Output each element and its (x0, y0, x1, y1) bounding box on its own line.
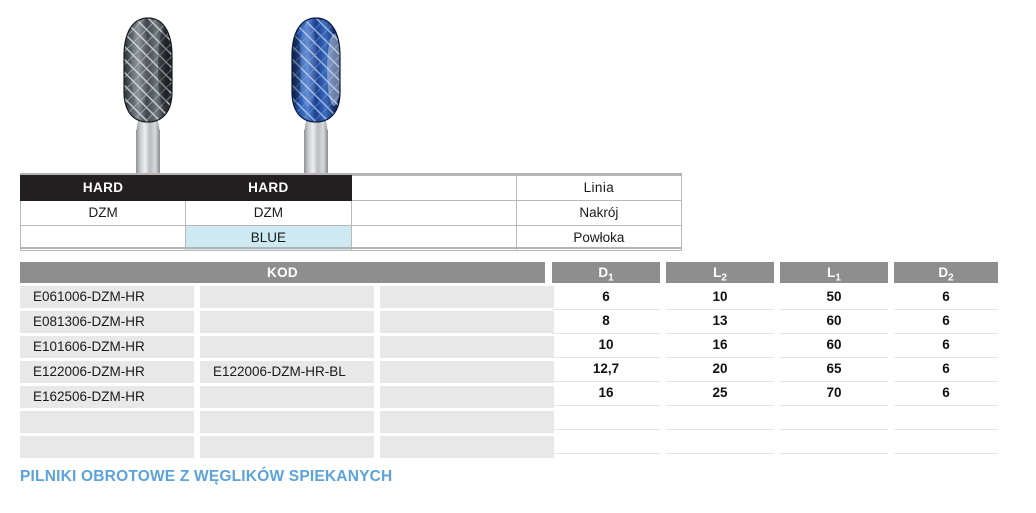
spec-cell-dzm-blue: DZM (186, 201, 351, 226)
kod-column-2: E122006-DZM-HR-BL (200, 286, 374, 461)
table-cell: 65 (780, 358, 888, 382)
spec-table-row-nakroj: DZM DZM Nakrój (21, 201, 682, 226)
dim-header-d2-sub: 2 (948, 273, 954, 284)
list-item[interactable]: E101606-DZM-HR (20, 336, 194, 358)
dim-header-l2-sub: 2 (721, 273, 727, 284)
list-item (20, 411, 194, 433)
product-image-row (0, 0, 1036, 175)
list-item (380, 361, 554, 383)
dim-header-d1-sub: 1 (608, 273, 614, 284)
table-cell: 6 (894, 358, 998, 382)
dim-column-d2: 6 6 6 6 6 (894, 286, 998, 454)
table-cell: 60 (780, 310, 888, 334)
dim-column-l2: 10 13 16 20 25 (666, 286, 774, 454)
list-item (20, 436, 194, 458)
dim-header-l2: L2 (666, 262, 774, 283)
kod-column-header: KOD (20, 262, 545, 283)
dim-header-d1-base: D (598, 265, 608, 280)
table-cell: 20 (666, 358, 774, 382)
kod-column-3 (380, 286, 554, 461)
list-item[interactable]: E162506-DZM-HR (20, 386, 194, 408)
kod-column-1: E061006-DZM-HR E081306-DZM-HR E101606-DZ… (20, 286, 194, 461)
list-item[interactable]: E081306-DZM-HR (20, 311, 194, 333)
list-item (200, 436, 374, 458)
dim-column-l1: 50 60 60 65 70 (780, 286, 888, 454)
list-item (380, 436, 554, 458)
dim-header-d2-base: D (938, 265, 948, 280)
list-item (200, 336, 374, 358)
table-cell: 6 (894, 286, 998, 310)
table-cell: 60 (780, 334, 888, 358)
list-item[interactable]: E122006-DZM-HR (20, 361, 194, 383)
dim-header-d1: D1 (552, 262, 660, 283)
burr-uncoated-svg (88, 10, 208, 175)
table-cell: 70 (780, 382, 888, 406)
table-cell: 8 (552, 310, 660, 334)
table-cell (552, 406, 660, 430)
spec-cell-hard-uncoated: HARD (21, 176, 186, 201)
table-cell: 10 (666, 286, 774, 310)
table-cell: 6 (894, 382, 998, 406)
list-item[interactable]: E061006-DZM-HR (20, 286, 194, 308)
spec-label-nakroj: Nakrój (516, 201, 681, 226)
table-cell (894, 430, 998, 454)
table-cell (666, 430, 774, 454)
table-cell: 13 (666, 310, 774, 334)
spec-table: HARD HARD Linia DZM DZM Nakrój BLUE Powł… (20, 175, 682, 251)
table-cell: 10 (552, 334, 660, 358)
list-item (200, 411, 374, 433)
spec-cell-empty-linia (351, 176, 516, 201)
table-cell: 6 (894, 310, 998, 334)
page-title: PILNIKI OBROTOWE Z WĘGLIKÓW SPIEKANYCH (20, 468, 392, 486)
list-item[interactable]: E122006-DZM-HR-BL (200, 361, 374, 383)
table-cell (894, 406, 998, 430)
list-item (200, 386, 374, 408)
table-cell: 25 (666, 382, 774, 406)
table-cell: 16 (552, 382, 660, 406)
list-item (380, 311, 554, 333)
spec-cell-hard-blue: HARD (186, 176, 351, 201)
dim-column-d1: 6 8 10 12,7 16 (552, 286, 660, 454)
carbide-burr-blue-coated-image (256, 10, 376, 175)
table-cell (552, 430, 660, 454)
dim-header-l1: L1 (780, 262, 888, 283)
table-cell (666, 406, 774, 430)
burr-blue-svg (256, 10, 376, 175)
list-item (200, 311, 374, 333)
spec-label-linia: Linia (516, 176, 681, 201)
table-cell: 6 (552, 286, 660, 310)
list-item (200, 286, 374, 308)
list-item (380, 411, 554, 433)
table-cell: 6 (894, 334, 998, 358)
dim-header-l1-sub: 1 (835, 273, 841, 284)
table-cell (780, 406, 888, 430)
carbide-burr-uncoated-image (88, 10, 208, 175)
list-item (380, 336, 554, 358)
spec-cell-dzm-uncoated: DZM (21, 201, 186, 226)
table-cell: 12,7 (552, 358, 660, 382)
list-item (380, 286, 554, 308)
table-cell (780, 430, 888, 454)
dim-header-d2: D2 (894, 262, 998, 283)
table-cell: 50 (780, 286, 888, 310)
table-cell: 16 (666, 334, 774, 358)
spec-table-bottom-rule (20, 247, 682, 249)
spec-table-row-linia: HARD HARD Linia (21, 176, 682, 201)
list-item (380, 386, 554, 408)
spec-cell-empty-nakroj (351, 201, 516, 226)
